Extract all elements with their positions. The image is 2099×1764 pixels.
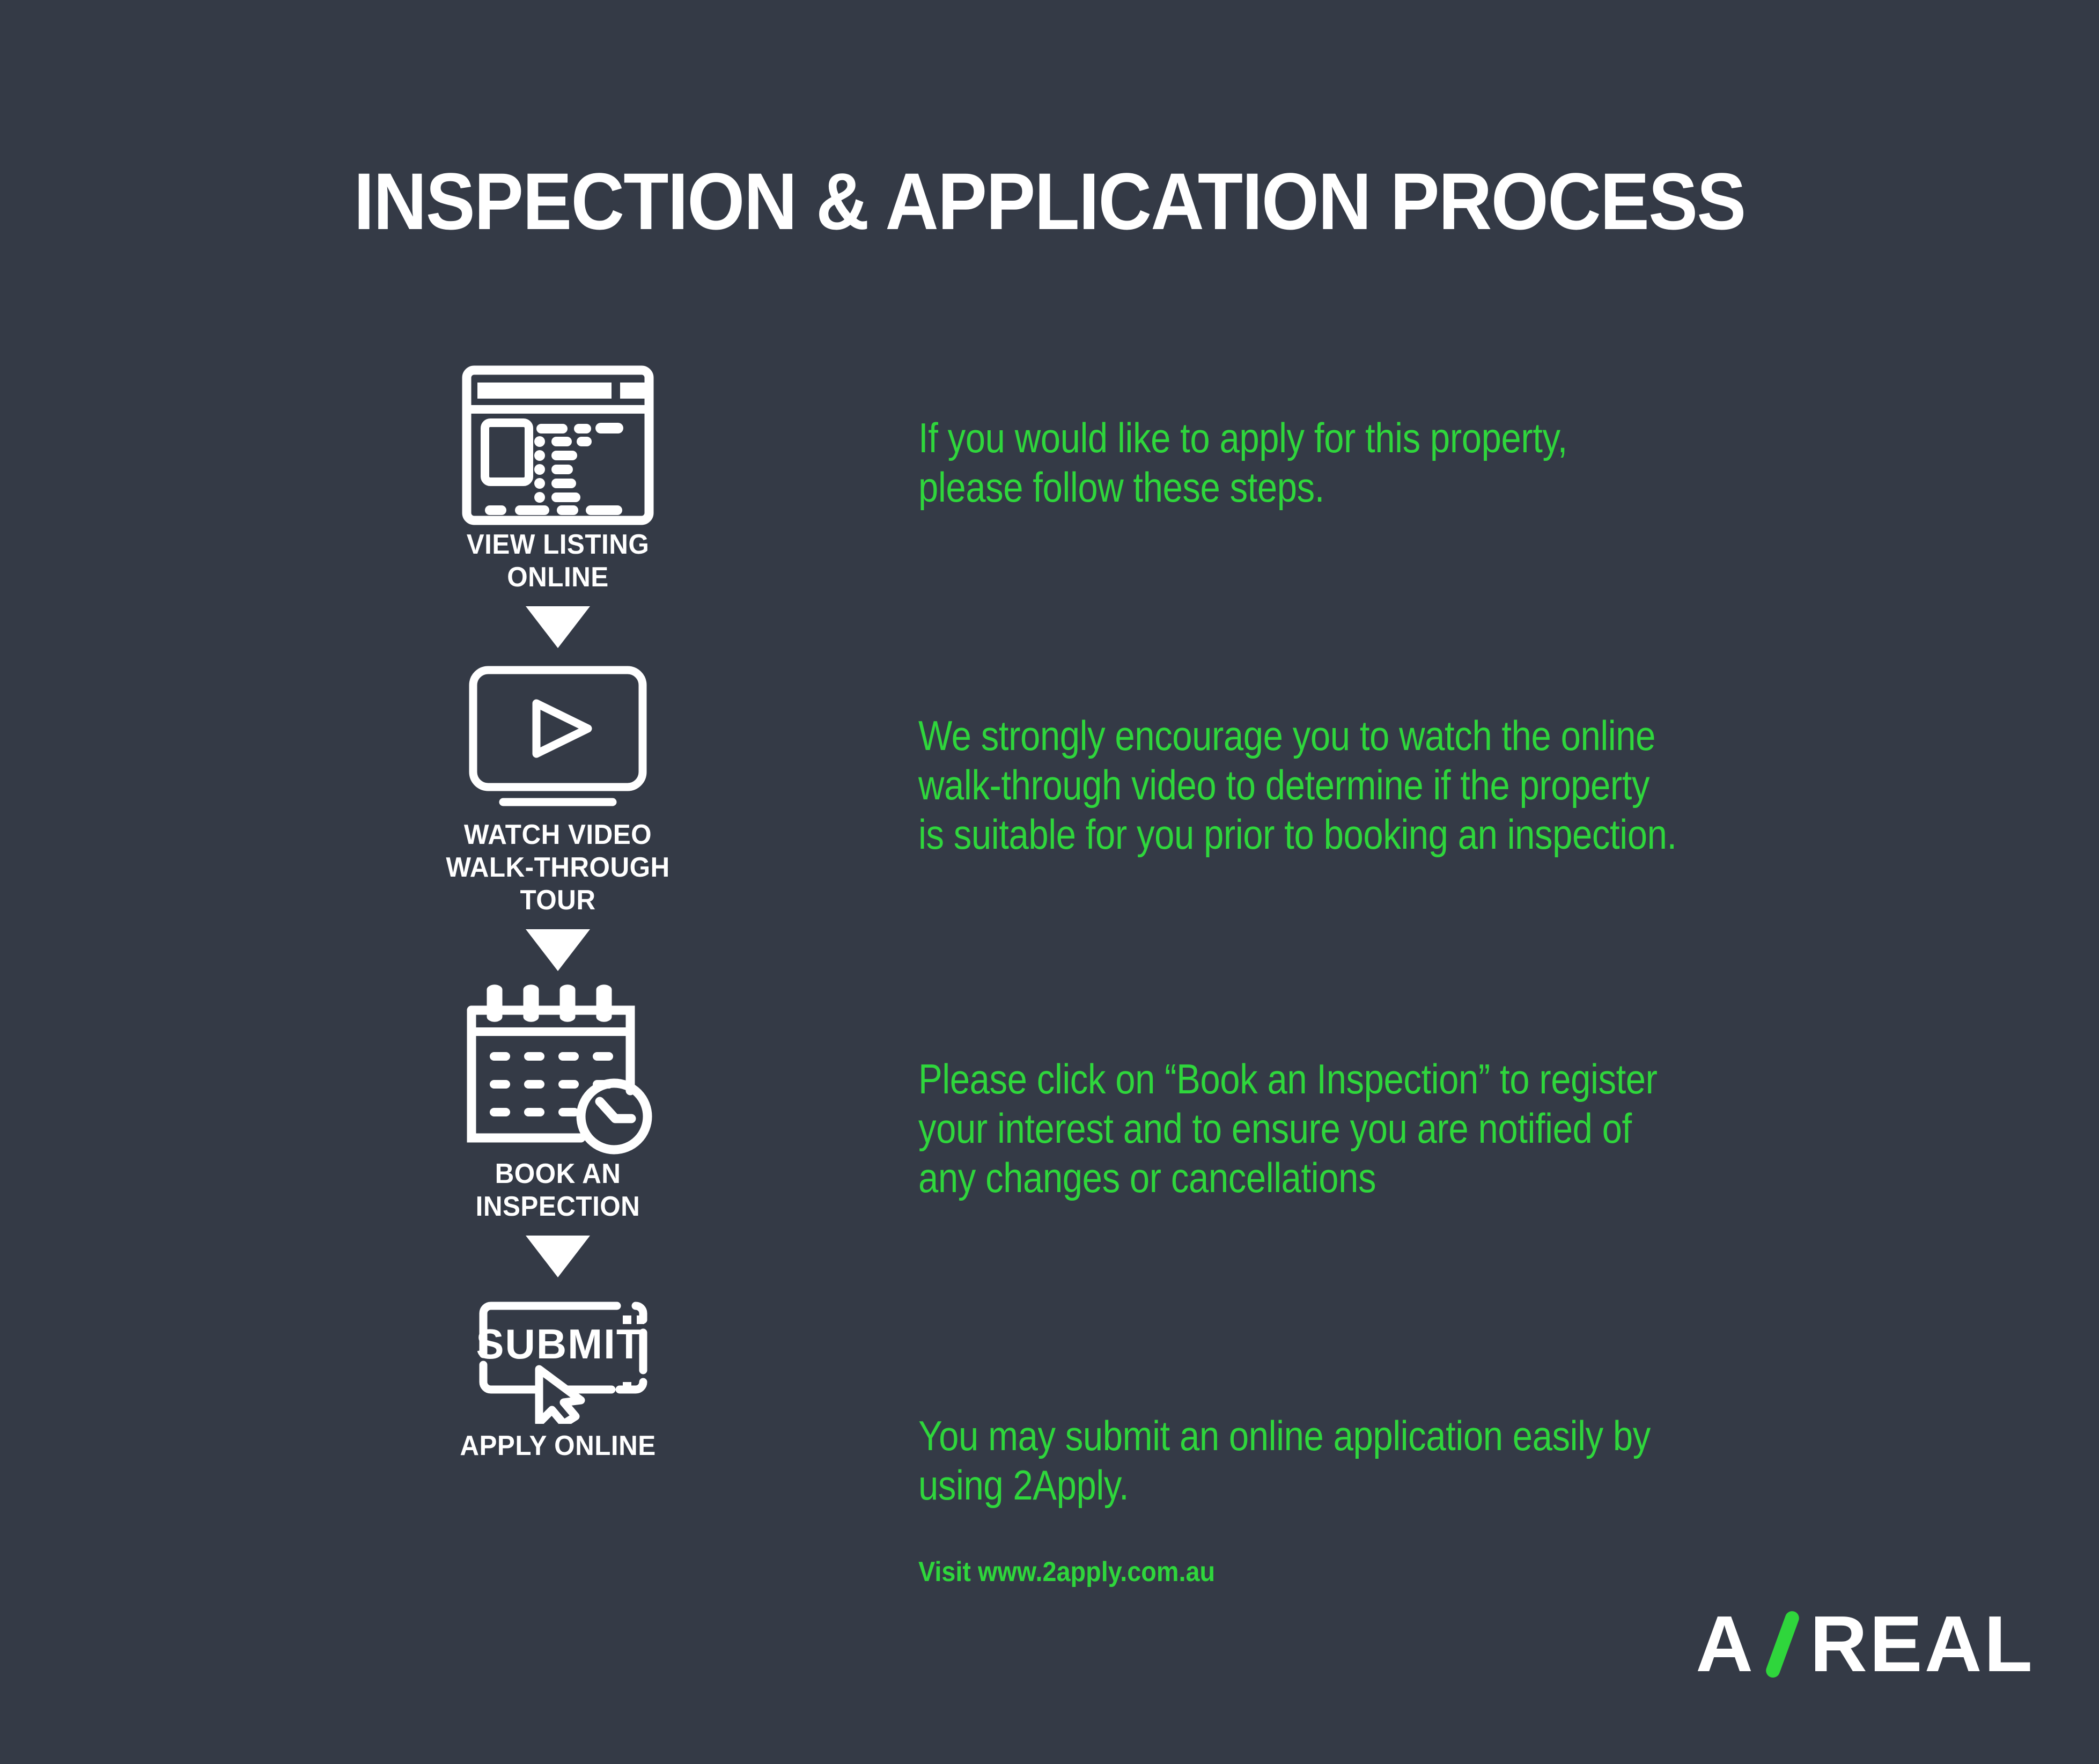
page-title: INSPECTION & APPLICATION PROCESS [84, 161, 2015, 241]
step-label: BOOK AN INSPECTION [415, 1158, 701, 1224]
video-play-icon [408, 660, 708, 819]
process-steps-column: VIEW LISTING ONLINE WATCH VIDEO WALK-THR… [408, 365, 708, 1462]
step-view-listing: VIEW LISTING ONLINE [408, 365, 708, 594]
step-watch-video: WATCH VIDEO WALK-THROUGH TOUR [408, 660, 708, 917]
submit-icon-label: SUBMIT [476, 1320, 643, 1368]
step-apply-online: SUBMIT APPLY ONLINE [408, 1290, 708, 1462]
step-label: WATCH VIDEO WALK-THROUGH TOUR [415, 819, 701, 917]
step-book-inspection: BOOK AN INSPECTION [408, 983, 708, 1224]
triangle-down-icon [408, 606, 708, 651]
visit-link[interactable]: Visit www.2apply.com.au [918, 1556, 1215, 1588]
triangle-down-icon [408, 1236, 708, 1280]
copy-paragraph-1: If you would like to apply for this prop… [918, 413, 1823, 512]
logo-letter-a: A [1696, 1605, 1755, 1684]
brand-logo: A REAL [1696, 1604, 2035, 1685]
step-label: VIEW LISTING ONLINE [415, 528, 701, 594]
triangle-down-icon [408, 929, 708, 974]
step-label: APPLY ONLINE [415, 1430, 701, 1462]
logo-word-real: REAL [1810, 1605, 2035, 1684]
copy-paragraph-2: We strongly encourage you to watch the o… [918, 711, 1823, 859]
logo-slash-icon [1758, 1609, 1807, 1679]
infographic-page: INSPECTION & APPLICATION PROCESS [0, 0, 2099, 1764]
copy-paragraph-3: Please click on “Book an Inspection” to … [918, 1054, 1823, 1202]
copy-paragraph-4: You may submit an online application eas… [918, 1411, 1823, 1510]
calendar-clock-icon [408, 983, 708, 1158]
submit-button-cursor-icon: SUBMIT [408, 1290, 708, 1427]
listing-window-icon [408, 365, 708, 528]
